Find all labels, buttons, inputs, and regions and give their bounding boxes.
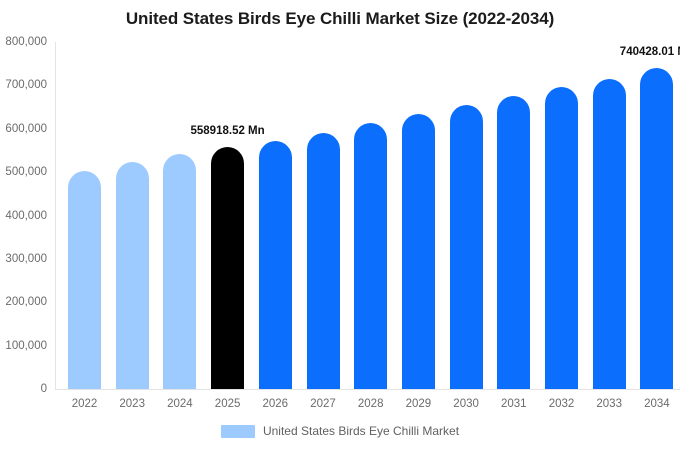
- bar-chart: United States Birds Eye Chilli Market Si…: [0, 0, 680, 450]
- y-axis-tick-label: 500,000: [0, 166, 47, 178]
- bar-2030[interactable]: [450, 105, 483, 389]
- legend-item-label: United States Birds Eye Chilli Market: [263, 424, 459, 438]
- data-label-2034: 740428.01 Mn: [577, 46, 680, 58]
- y-axis-tick-label: 100,000: [0, 340, 47, 352]
- bar-2023[interactable]: [116, 162, 149, 389]
- x-axis-tick-label: 2034: [627, 398, 680, 410]
- x-axis-line: [55, 389, 680, 390]
- y-axis-tick-label: 200,000: [0, 296, 47, 308]
- legend-item[interactable]: United States Birds Eye Chilli Market: [221, 424, 459, 438]
- bar-2024[interactable]: [163, 154, 196, 389]
- y-axis-tick-label: 300,000: [0, 253, 47, 265]
- y-axis-tick-label: 700,000: [0, 79, 47, 91]
- bar-2026[interactable]: [259, 141, 292, 389]
- bar-2022[interactable]: [68, 171, 101, 389]
- bar-2029[interactable]: [402, 114, 435, 389]
- bar-2031[interactable]: [497, 96, 530, 389]
- bar-2033[interactable]: [593, 79, 626, 389]
- data-label-2025: 558918.52 Mn: [148, 125, 308, 137]
- bar-2027[interactable]: [307, 133, 340, 389]
- plot-area: [55, 42, 680, 389]
- chart-legend: United States Birds Eye Chilli Market: [0, 424, 680, 438]
- bar-2032[interactable]: [545, 87, 578, 389]
- legend-swatch-icon: [221, 425, 255, 438]
- y-axis-tick-label: 400,000: [0, 210, 47, 222]
- bar-2025[interactable]: [211, 147, 244, 389]
- bar-2034[interactable]: [640, 68, 673, 389]
- y-axis-tick-label: 800,000: [0, 36, 47, 48]
- y-axis-tick-label: 0: [0, 383, 47, 395]
- bar-2028[interactable]: [354, 123, 387, 389]
- y-axis-tick-label: 600,000: [0, 123, 47, 135]
